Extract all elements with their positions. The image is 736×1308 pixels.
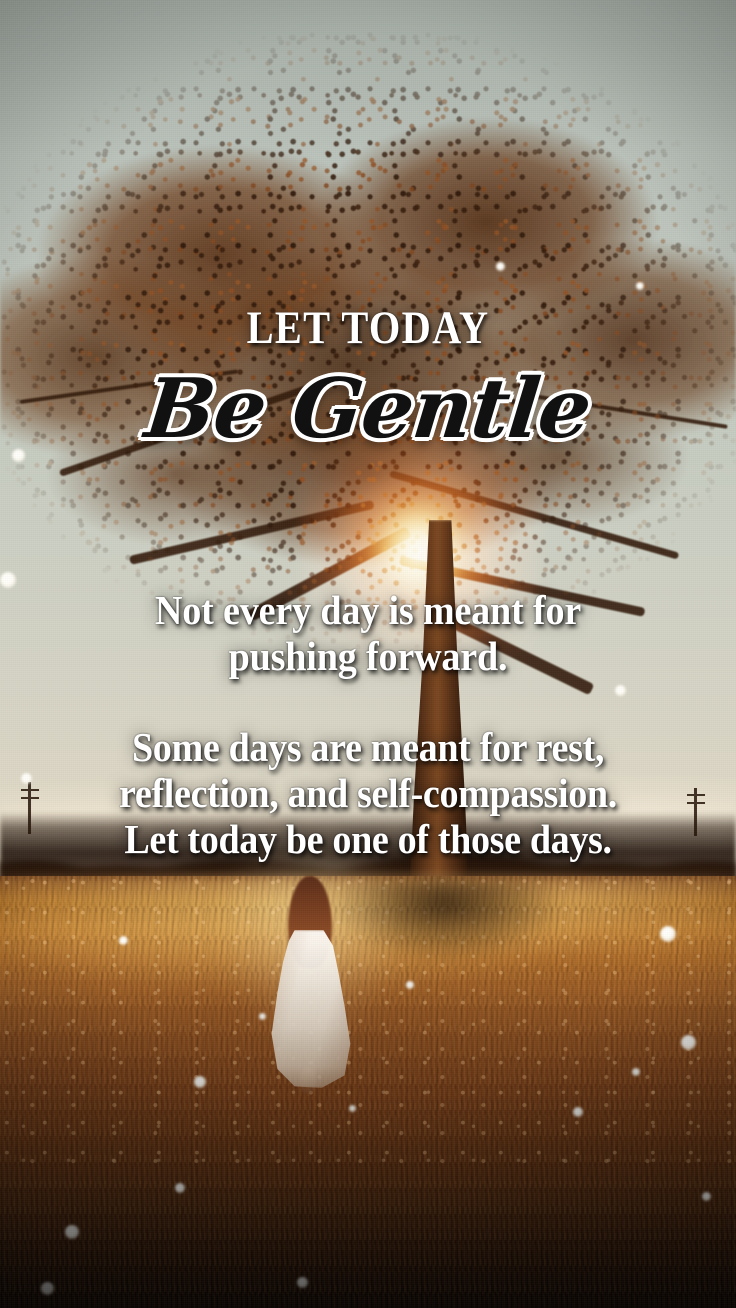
quote-paragraph-1: Not every day is meant for pushing forwa…: [26, 588, 710, 680]
quote-line: pushing forward.: [26, 634, 710, 680]
quote-line: Not every day is meant for: [26, 588, 710, 634]
quote-line: Some days are meant for rest,: [26, 725, 710, 771]
quote-line: reflection, and self-compassion.: [26, 771, 710, 817]
headline-script: Be Gentle: [0, 366, 736, 452]
quote-poster: LET TODAY Be Gentle Not every day is mea…: [0, 0, 736, 1308]
quote-paragraph-2: Some days are meant for rest, reflection…: [26, 725, 710, 863]
headline-kicker: LET TODAY: [52, 305, 685, 352]
quote-line: Let today be one of those days.: [26, 817, 710, 863]
